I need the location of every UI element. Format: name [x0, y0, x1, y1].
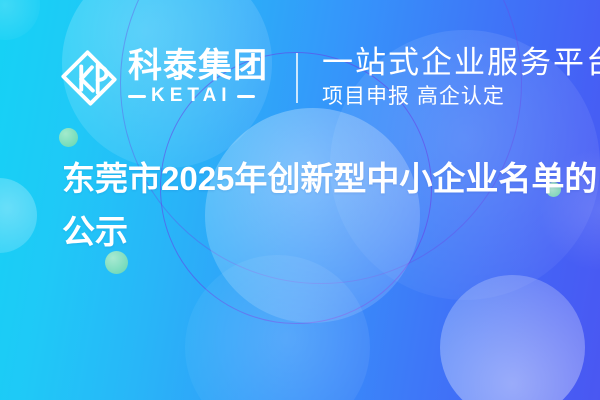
background-circle-lower-center — [185, 255, 370, 400]
tagline-secondary: 项目申报 高企认定 — [322, 84, 600, 110]
background-circle-bottom-right — [440, 275, 585, 400]
wordmark-rule-right — [237, 95, 255, 98]
background-circle-top-left — [0, 0, 40, 40]
banner-header: 科泰集团 KETAI 一站式企业服务平台 项目申报 高企认定 — [58, 42, 600, 114]
wordmark-rule-left — [128, 95, 146, 98]
promo-banner: 科泰集团 KETAI 一站式企业服务平台 项目申报 高企认定 东莞市2025年创… — [0, 0, 600, 400]
brand-name-en: KETAI — [151, 85, 232, 107]
accent-dot-green-upper-left — [59, 128, 78, 147]
brand-name-cn: 科泰集团 — [128, 49, 268, 84]
ketai-diamond-monogram-icon — [58, 47, 120, 109]
brand-name-en-row: KETAI — [128, 85, 268, 107]
page-title: 东莞市2025年创新型中小企业名单的公示 — [62, 152, 600, 259]
header-divider — [296, 53, 298, 103]
tagline-group: 一站式企业服务平台 项目申报 高企认定 — [322, 46, 600, 109]
brand-wordmark: 科泰集团 KETAI — [128, 49, 268, 107]
background-circle-left-edge — [0, 178, 37, 253]
tagline-primary: 一站式企业服务平台 — [322, 46, 600, 81]
